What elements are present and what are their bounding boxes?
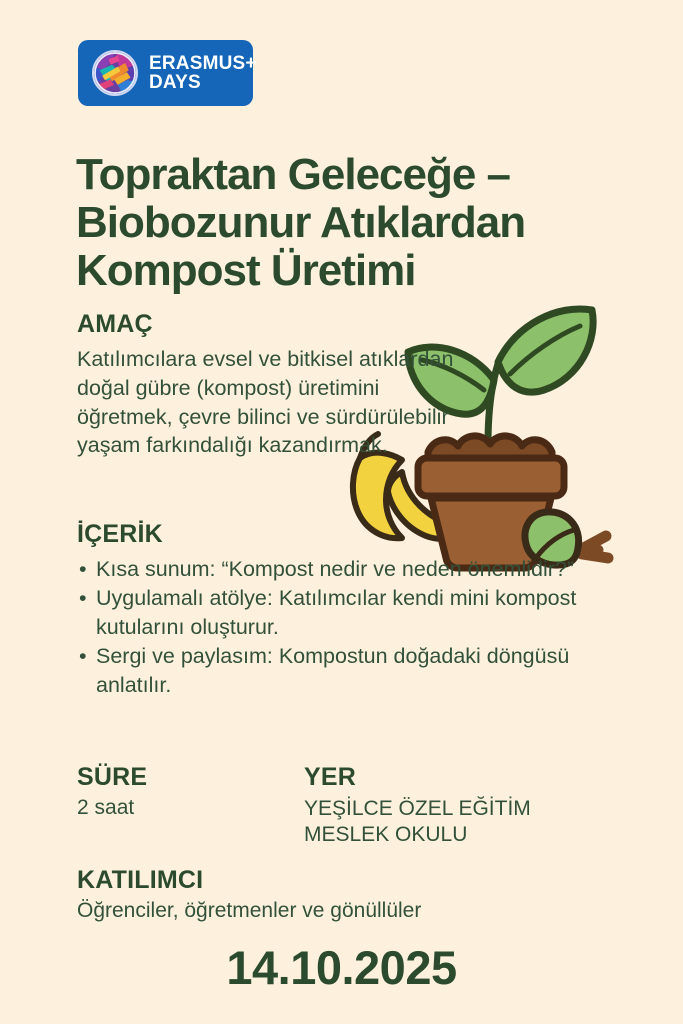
sure-heading: SÜRE [77,763,147,792]
sure-section: SÜRE 2 saat [77,763,147,820]
erasmus-days-wordmark: ERASMUS+ DAYS [149,54,257,93]
title-line-1: Topraktan Geleceğe – [76,150,510,199]
page-title: Topraktan Geleceğe – Biobozunur Atıklard… [76,151,656,295]
title-line-2: Biobozunur Atıklardan [76,198,525,247]
amac-text: Katılımcılara evsel ve bitkisel atıklard… [77,345,462,460]
yer-line-2: MESLEK OKULU [304,822,604,848]
erasmus-days-globe-icon [92,50,138,96]
list-item: Sergi ve paylasım: Kompostun doğadaki dö… [77,642,577,699]
list-item: Kısa sunum: “Kompost nedir ve neden önem… [77,555,577,583]
yer-heading: YER [304,763,604,792]
logo-line-1: ERASMUS+ [149,54,257,73]
katilimci-heading: KATILIMCI [77,866,597,895]
icerik-list: Kısa sunum: “Kompost nedir ve neden önem… [77,555,577,699]
list-item: Uygulamalı atölye: Katılımcılar kendi mi… [77,584,577,641]
event-date: 14.10.2025 [0,940,683,995]
icerik-heading: İÇERİK [77,520,577,549]
logo-line-2: DAYS [149,73,257,92]
amac-section: AMAÇ Katılımcılara evsel ve bitkisel atı… [77,310,462,460]
poster-canvas: ERASMUS+ DAYS Topraktan Geleceğe – Biobo… [0,0,683,1024]
sure-value: 2 saat [77,796,147,820]
katilimci-section: KATILIMCI Öğrenciler, öğretmenler ve gön… [77,866,597,923]
amac-heading: AMAÇ [77,310,462,339]
title-line-3: Kompost Üretimi [76,246,415,295]
pot-rim [418,458,564,496]
erasmus-days-logo-badge: ERASMUS+ DAYS [78,40,253,106]
yer-section: YER YEŞİLCE ÖZEL EĞİTİM MESLEK OKULU [304,763,604,849]
yer-line-1: YEŞİLCE ÖZEL EĞİTİM [304,796,604,822]
katilimci-value: Öğrenciler, öğretmenler ve gönüllüler [77,899,597,923]
icerik-section: İÇERİK Kısa sunum: “Kompost nedir ve ned… [77,520,577,700]
